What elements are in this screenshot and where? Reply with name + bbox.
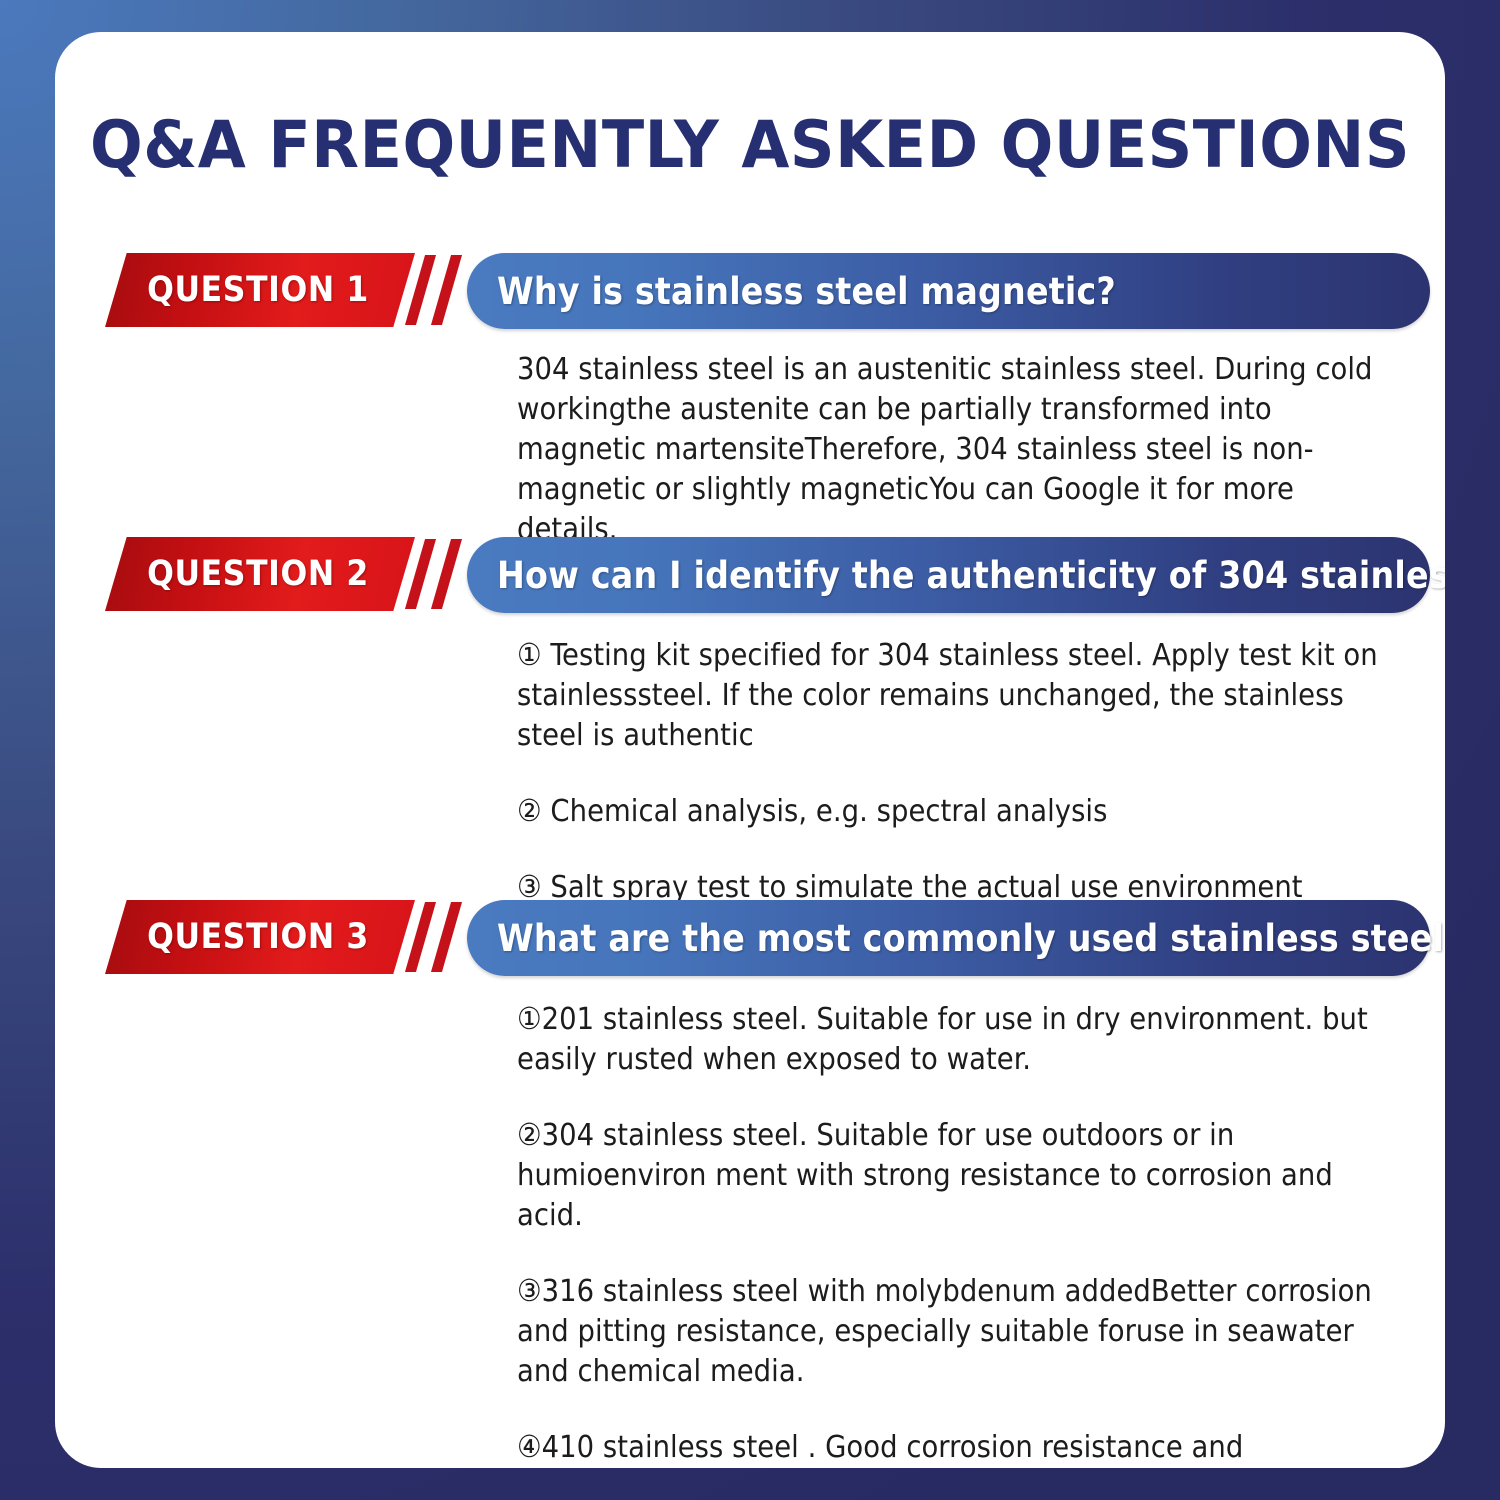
answer-paragraph-3-2: ②304 stainless steel. Suitable for use o… [517,1116,1397,1236]
answer-block-3: ①201 stainless steel. Suitable for use i… [517,1000,1397,1468]
faq-page: Q&A FREQUENTLY ASKED QUESTIONS QUESTION … [0,0,1500,1500]
answer-paragraph-3-1: ①201 stainless steel. Suitable for use i… [517,1000,1397,1080]
question-tag-3[interactable]: QUESTION 3 [105,900,415,974]
slash-icon-2b [431,539,462,609]
question-banner-2: QUESTION 2 How can I identify the authen… [55,537,1445,615]
question-banner-3: QUESTION 3 What are the most commonly us… [55,900,1445,978]
question-tag-label-1: QUESTION 1 [147,270,369,310]
question-pill-3[interactable]: What are the most commonly used stainles… [467,900,1430,976]
question-text-1: Why is stainless steel magnetic? [497,270,1116,313]
question-tag-label-2: QUESTION 2 [147,554,369,594]
question-tag-2[interactable]: QUESTION 2 [105,537,415,611]
question-block-2: QUESTION 2 How can I identify the authen… [55,537,1445,615]
question-block-3: QUESTION 3 What are the most commonly us… [55,900,1445,978]
answer-block-2: ① Testing kit specified for 304 stainles… [517,636,1397,908]
answer-paragraph-3-3: ③316 stainless steel with molybdenum add… [517,1272,1397,1392]
page-title: Q&A FREQUENTLY ASKED QUESTIONS [55,108,1445,183]
question-pill-2[interactable]: How can I identify the authenticity of 3… [467,537,1430,613]
answer-paragraph-1-1: 304 stainless steel is an austenitic sta… [517,350,1397,550]
answer-paragraph-2-1: ① Testing kit specified for 304 stainles… [517,636,1397,756]
answer-paragraph-2-2: ② Chemical analysis, e.g. spectral analy… [517,792,1397,832]
answer-block-1: 304 stainless steel is an austenitic sta… [517,350,1397,550]
question-tag-1[interactable]: QUESTION 1 [105,253,415,327]
question-banner-1: QUESTION 1 Why is stainless steel magnet… [55,253,1445,331]
question-block-1: QUESTION 1 Why is stainless steel magnet… [55,253,1445,331]
faq-card: Q&A FREQUENTLY ASKED QUESTIONS QUESTION … [55,32,1445,1468]
question-text-2: How can I identify the authenticity of 3… [497,554,1445,597]
answer-paragraph-3-4: ④410 stainless steel . Good corrosion re… [517,1428,1397,1468]
slash-icon-3b [431,902,462,972]
question-tag-label-3: QUESTION 3 [147,917,369,957]
question-pill-1[interactable]: Why is stainless steel magnetic? [467,253,1430,329]
question-text-3: What are the most commonly used stainles… [497,917,1445,960]
slash-icon-1b [431,255,462,325]
